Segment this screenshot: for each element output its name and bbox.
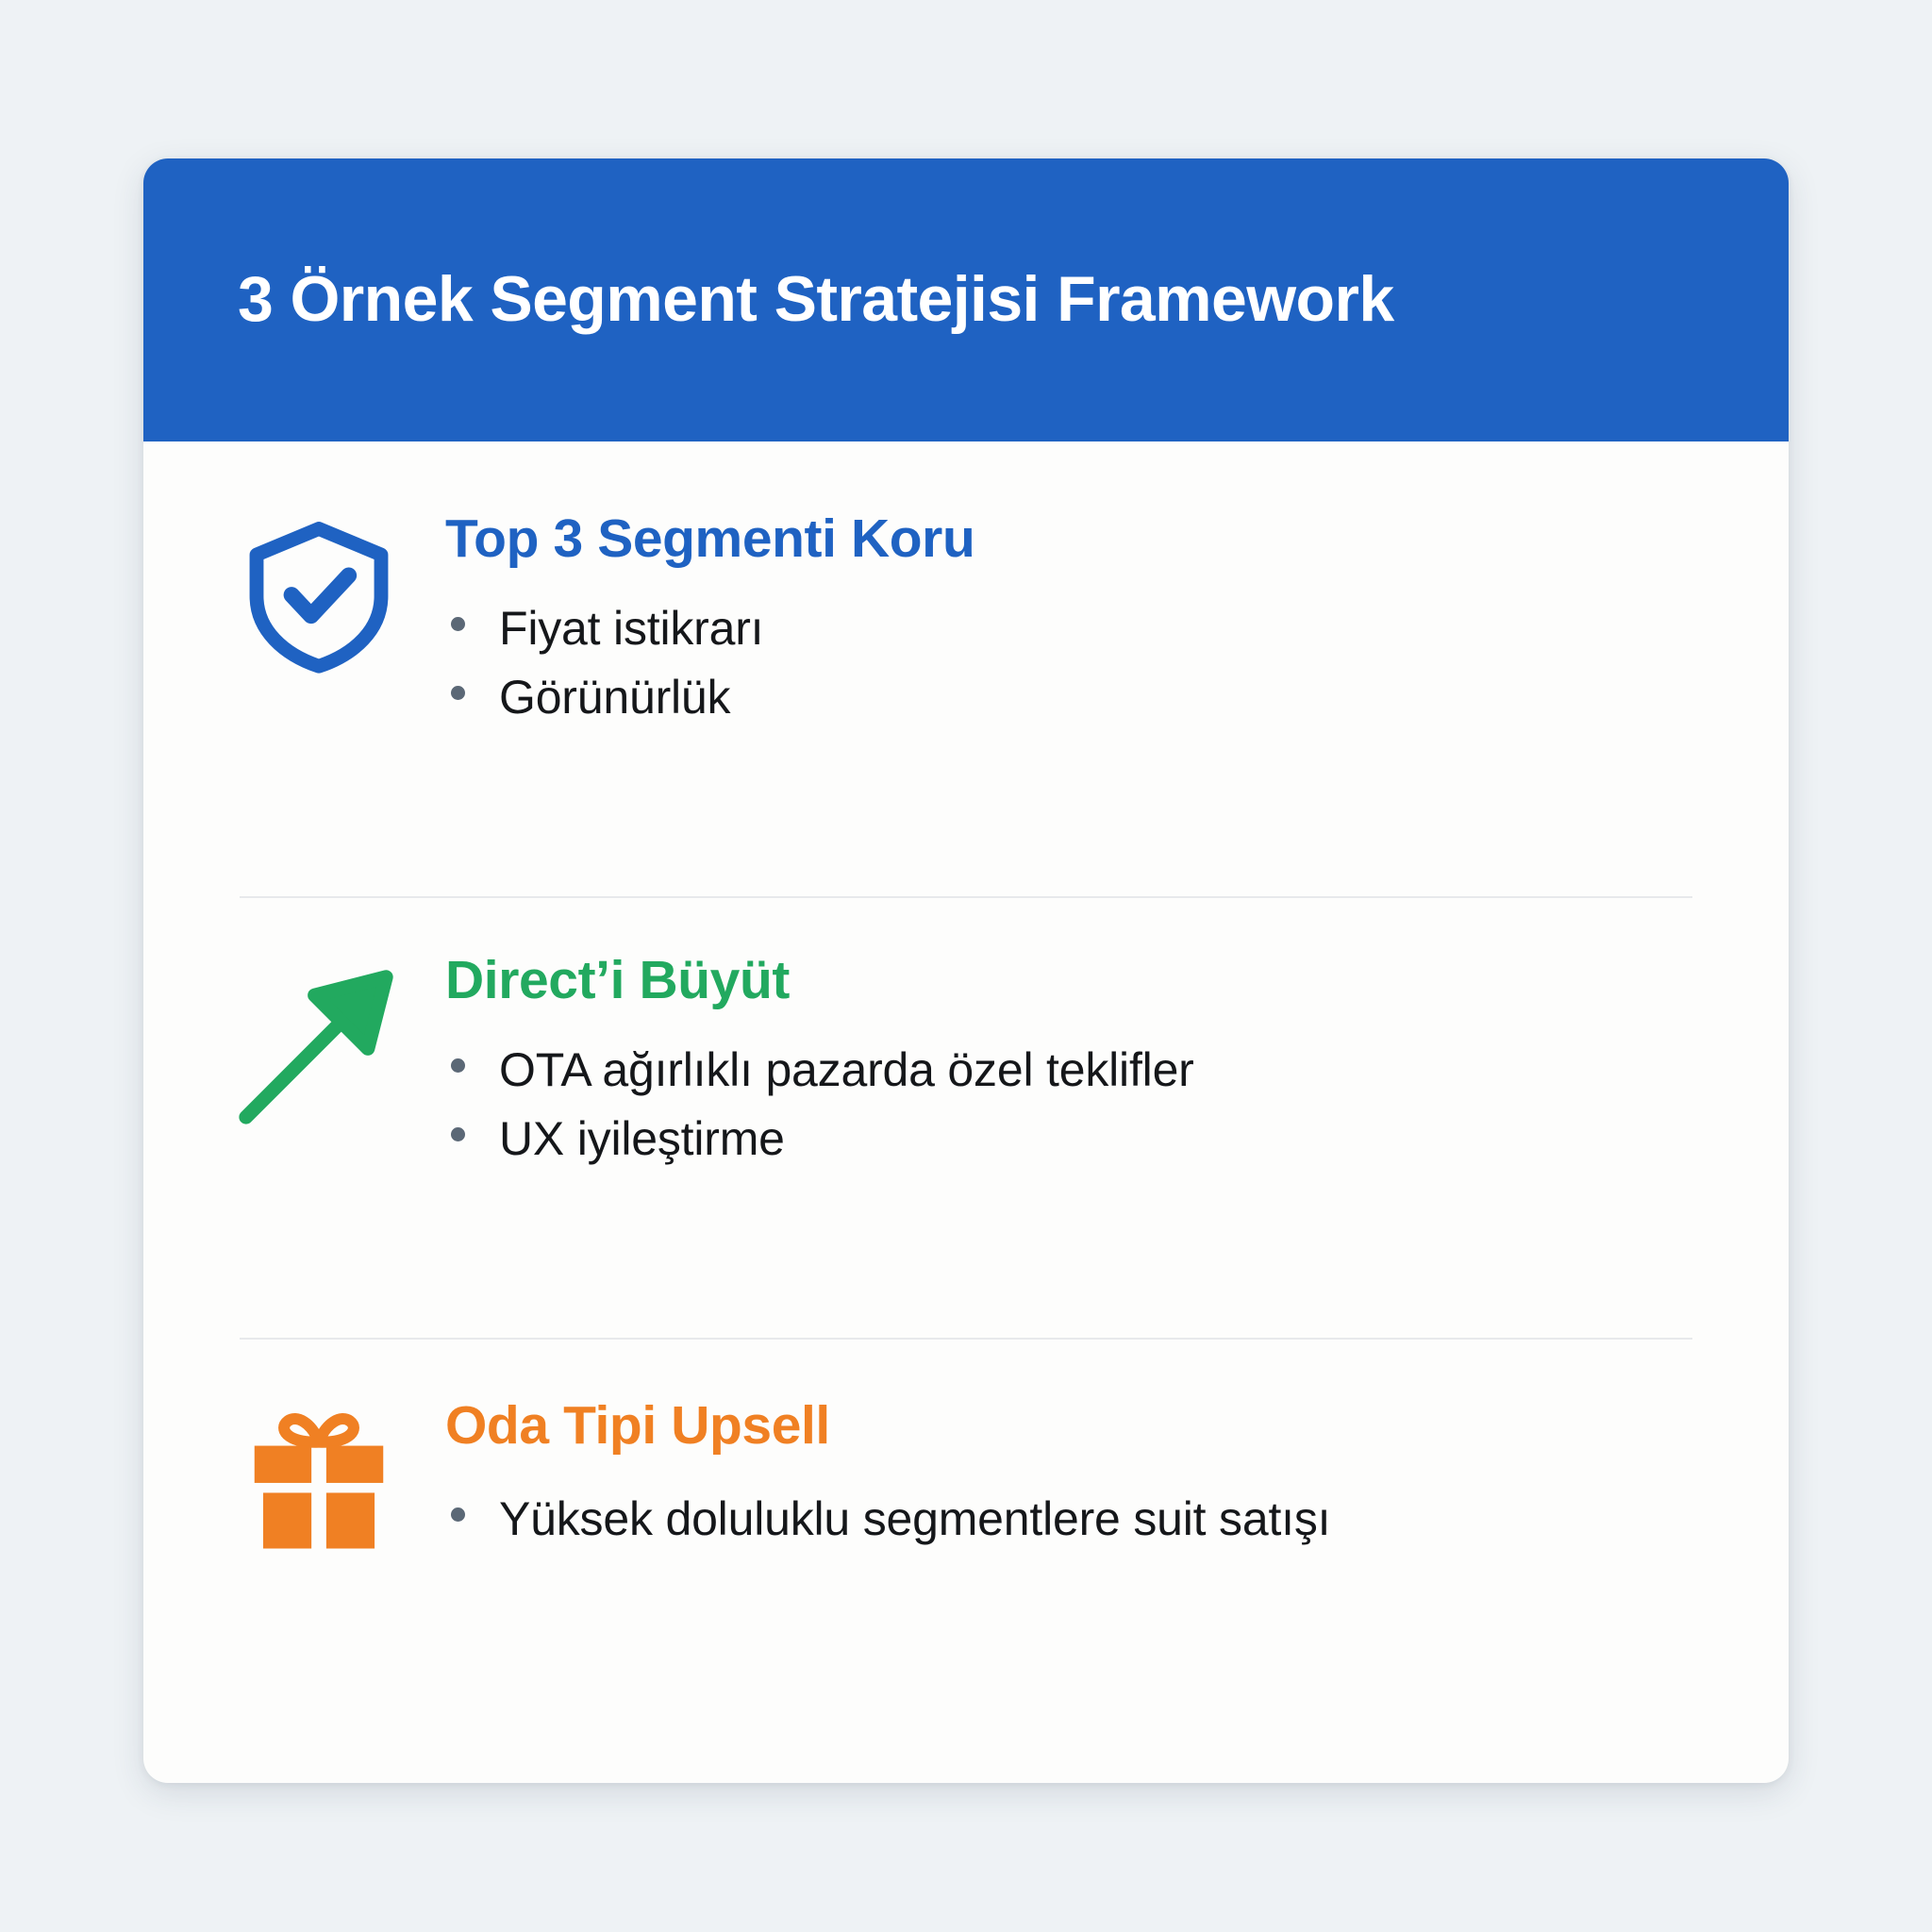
list-item: UX iyileştirme	[445, 1105, 1726, 1174]
list-item-label: Yüksek doluluklu segmentlere suit satışı	[499, 1485, 1330, 1554]
screenshot-canvas: 3 Örnek Segment Stratejisi Framework Top…	[0, 0, 1932, 1932]
list-item: Görünürlük	[445, 663, 1726, 732]
bullet-marker-icon	[451, 686, 465, 700]
list-item: Fiyat istikrarı	[445, 594, 1726, 663]
section-icon-wrapper	[206, 508, 432, 679]
section-oda-tipi-upsell: Oda Tipi Upsell Yüksek doluluklu segment…	[206, 1338, 1726, 1783]
page-title: 3 Örnek Segment Stratejisi Framework	[238, 265, 1394, 334]
gift-icon	[240, 1400, 398, 1558]
section-icon-wrapper	[206, 949, 432, 1134]
list-item: Yüksek doluluklu segmentlere suit satışı	[445, 1485, 1726, 1554]
section-icon-wrapper	[206, 1394, 432, 1558]
arrow-up-right-icon	[229, 955, 408, 1134]
list-item-label: Görünürlük	[499, 663, 730, 732]
section-top-3-segmenti-koru: Top 3 Segmenti Koru Fiyat istikrarı Görü…	[206, 441, 1726, 896]
section-title: Top 3 Segmenti Koru	[445, 509, 1726, 570]
section-content: Oda Tipi Upsell Yüksek doluluklu segment…	[432, 1394, 1726, 1554]
framework-card: 3 Örnek Segment Stratejisi Framework Top…	[143, 158, 1789, 1783]
bullet-marker-icon	[451, 1507, 465, 1522]
bullet-marker-icon	[451, 617, 465, 631]
bullet-marker-icon	[451, 1127, 465, 1141]
section-title: Direct’i Büyüt	[445, 951, 1726, 1011]
card-body: Top 3 Segmenti Koru Fiyat istikrarı Görü…	[143, 441, 1789, 1783]
list-item-label: Fiyat istikrarı	[499, 594, 763, 663]
list-item-label: UX iyileştirme	[499, 1105, 785, 1174]
list-item: OTA ağırlıklı pazarda özel teklifler	[445, 1036, 1726, 1105]
bullet-marker-icon	[451, 1058, 465, 1073]
bullet-list: Yüksek doluluklu segmentlere suit satışı	[445, 1485, 1726, 1554]
bullet-list: OTA ağırlıklı pazarda özel teklifler UX …	[445, 1036, 1726, 1174]
section-content: Top 3 Segmenti Koru Fiyat istikrarı Görü…	[432, 508, 1726, 732]
section-content: Direct’i Büyüt OTA ağırlıklı pazarda öze…	[432, 949, 1726, 1174]
bullet-list: Fiyat istikrarı Görünürlük	[445, 594, 1726, 732]
card-header: 3 Örnek Segment Stratejisi Framework	[143, 158, 1789, 441]
list-item-label: OTA ağırlıklı pazarda özel teklifler	[499, 1036, 1194, 1105]
section-directi-buyut: Direct’i Büyüt OTA ağırlıklı pazarda öze…	[206, 896, 1726, 1338]
section-title: Oda Tipi Upsell	[445, 1396, 1726, 1457]
shield-check-icon	[236, 513, 402, 679]
